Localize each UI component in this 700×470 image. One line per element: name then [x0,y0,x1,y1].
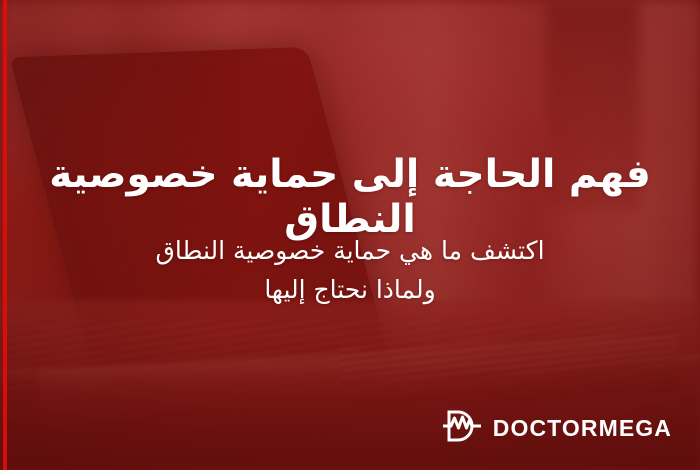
brand-wordmark: DOCTORMEGA [493,417,672,440]
banner-subtitle-line-1: اكتشف ما هي حماية خصوصية النطاق [40,232,660,271]
banner-content: فهم الحاجة إلى حماية خصوصية النطاق اكتشف… [0,0,700,470]
article-featured-banner: فهم الحاجة إلى حماية خصوصية النطاق اكتشف… [0,0,700,470]
banner-subtitle: اكتشف ما هي حماية خصوصية النطاق ولماذا ن… [0,232,700,310]
brand-logo[interactable]: DOCTORMEGA [441,408,672,448]
doctormega-d-pulse-icon [441,408,483,448]
banner-subtitle-line-2: ولماذا نحتاج إليها [40,271,660,310]
banner-title: فهم الحاجة إلى حماية خصوصية النطاق [0,152,700,242]
